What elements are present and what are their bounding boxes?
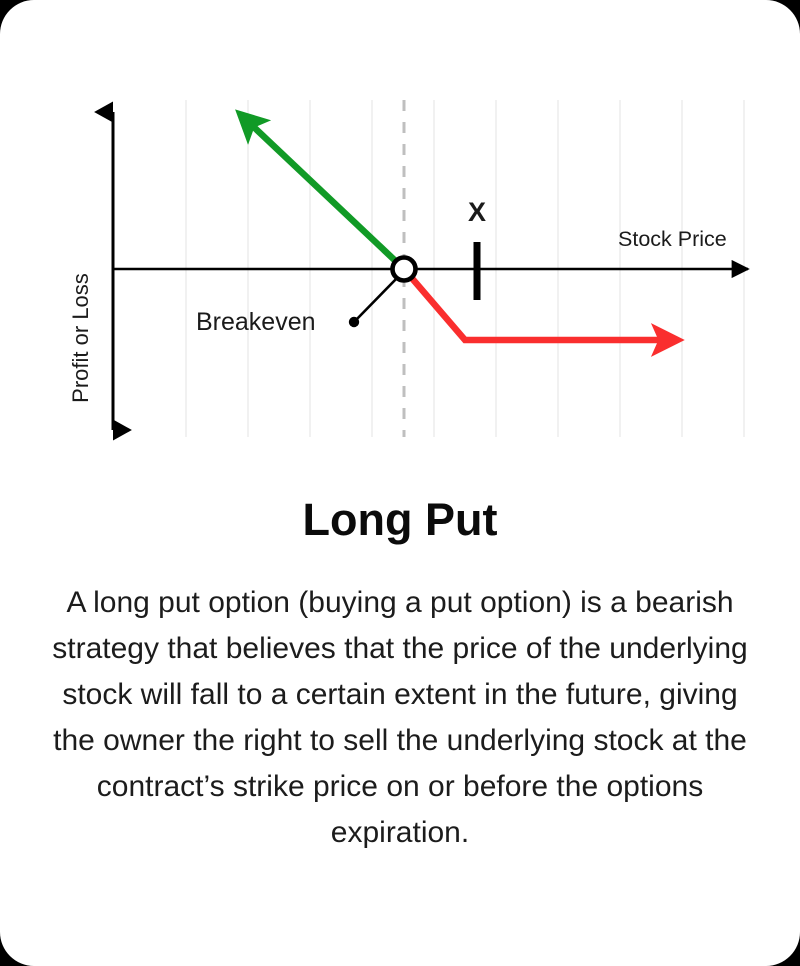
page-title: Long Put bbox=[0, 494, 800, 546]
strategy-title-wrap: Long Put bbox=[0, 494, 800, 546]
breakeven-label: Breakeven bbox=[196, 308, 316, 336]
strategy-description: A long put option (buying a put option) … bbox=[48, 580, 752, 856]
breakeven-leader-line bbox=[355, 276, 399, 321]
strategy-description-wrap: A long put option (buying a put option) … bbox=[48, 580, 752, 856]
breakeven-marker bbox=[393, 258, 416, 281]
strike-label: X bbox=[468, 197, 486, 227]
payoff-diagram: Profit or Loss Stock Price Breakeven X bbox=[0, 0, 800, 470]
x-axis-label: Stock Price bbox=[618, 227, 727, 251]
profit-line bbox=[240, 114, 404, 269]
strategy-card: Profit or Loss Stock Price Breakeven X L… bbox=[0, 0, 800, 966]
y-axis-label: Profit or Loss bbox=[68, 273, 93, 403]
loss-line bbox=[404, 269, 678, 340]
breakeven-leader-dot bbox=[349, 317, 359, 327]
